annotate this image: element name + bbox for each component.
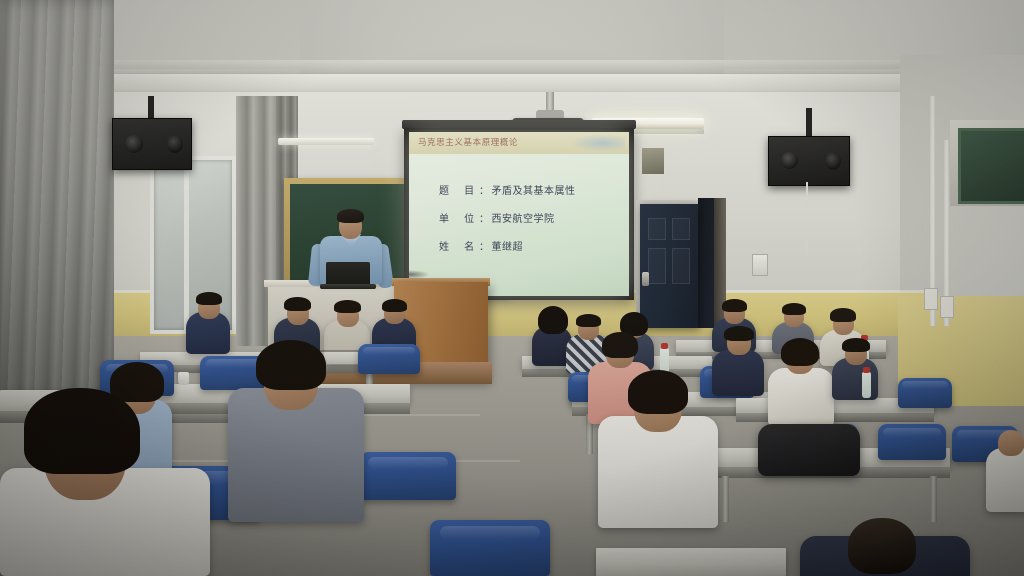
laptop[interactable] (326, 262, 370, 286)
wall-grille-box (640, 146, 666, 176)
door-handle-icon[interactable] (642, 272, 649, 286)
slide-line-institution: 单 位 ： 西安航空学院 (439, 210, 621, 225)
slide-title-band: 马克思主义基本原理概论 (409, 132, 629, 154)
entry-door[interactable] (640, 204, 698, 328)
slide-course-title: 马克思主义基本原理概论 (418, 136, 518, 148)
classroom-photo: 马克思主义基本原理概论 题 目 ： 矛盾及其基本属性 单 位 ： 西安航空学院 … (0, 0, 1024, 576)
desk-leg-4 (722, 476, 729, 522)
paper-cup (178, 372, 189, 385)
conduit-junction-box-1 (924, 288, 938, 310)
light-switch[interactable] (752, 254, 768, 276)
slide-label-name: 姓 名 (439, 238, 479, 253)
slide-colon-2: ： (479, 210, 490, 225)
service-window (958, 128, 1024, 204)
slide-decoration (569, 134, 625, 152)
slide-body: 题 目 ： 矛盾及其基本属性 单 位 ： 西安航空学院 姓 名 ： 董继超 (439, 182, 621, 266)
chair-fg-b (360, 452, 456, 500)
chair-fg-e (358, 344, 420, 374)
speaker-bracket-right (806, 108, 812, 138)
desk-leg-5 (930, 476, 937, 522)
chair-r3-c (898, 378, 952, 408)
slide-value-institution: 西安航空学院 (492, 210, 555, 225)
slide-line-presenter: 姓 名 ： 董继超 (439, 238, 621, 253)
slide-value-topic: 矛盾及其基本属性 (492, 182, 576, 197)
window-left (150, 156, 236, 334)
fluorescent-light-left (278, 138, 374, 145)
conduit-junction-box-2 (940, 296, 954, 318)
water-bottle-3 (862, 372, 871, 398)
projection-screen[interactable]: 马克思主义基本原理概论 题 目 ： 矛盾及其基本属性 单 位 ： 西安航空学院 … (409, 132, 629, 296)
laptop-base (320, 284, 376, 289)
ceiling-beam-upper (0, 60, 1024, 69)
slide-value-name: 董继超 (492, 238, 524, 253)
slide-colon-1: ： (479, 182, 490, 197)
wall-speaker-left-icon (112, 118, 192, 170)
chair-r4-b (878, 424, 946, 460)
chair-fg-bottom (430, 520, 550, 576)
slide-label-institution: 单 位 (439, 210, 479, 225)
slide-label-topic: 题 目 (439, 182, 479, 197)
curtain-left (0, 0, 114, 400)
slide-line-topic: 题 目 ： 矛盾及其基本属性 (439, 182, 621, 197)
speaker-cable (806, 182, 808, 254)
backpack (758, 424, 860, 476)
speaker-bracket-left (148, 96, 154, 120)
slide-colon-3: ： (479, 238, 490, 253)
desk-foreground-bottom (596, 548, 786, 576)
wall-speaker-right-icon (768, 136, 850, 186)
desk-row3-right-side (736, 413, 934, 422)
presenter-hair (337, 209, 364, 223)
